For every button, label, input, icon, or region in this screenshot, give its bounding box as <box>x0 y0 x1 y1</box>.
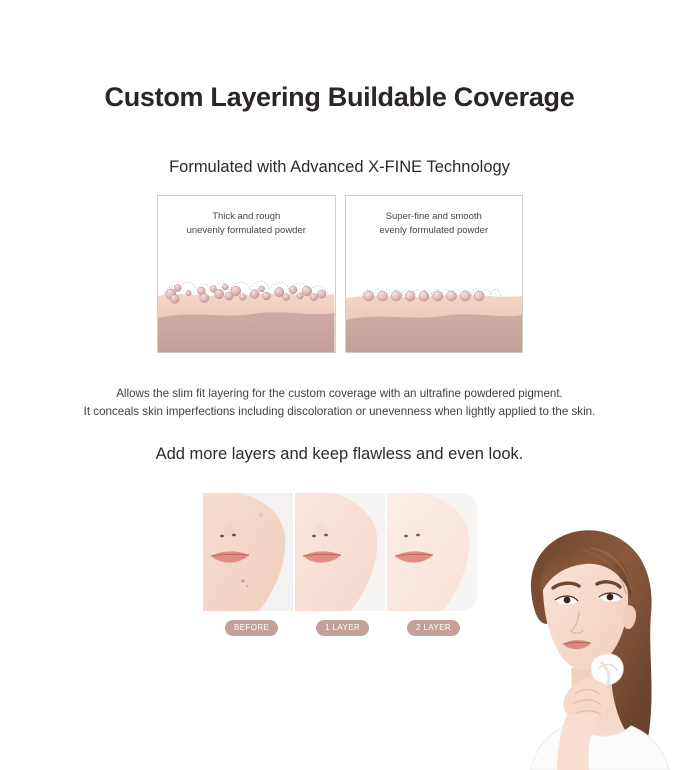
model-applying-cushion-photo <box>479 518 679 770</box>
badge-one-layer: 1 LAYER <box>316 620 369 636</box>
panel-even-powder: Super-fine and smooth evenly formulated … <box>345 195 524 353</box>
face-before-photo <box>203 493 293 611</box>
description-line-2: It conceals skin imperfections including… <box>0 403 679 421</box>
face-two-layer-photo <box>387 493 477 611</box>
product-detail-page: Custom Layering Buildable Coverage Formu… <box>0 0 679 770</box>
page-title: Custom Layering Buildable Coverage <box>0 82 679 113</box>
description-line-1: Allows the slim fit layering for the cus… <box>0 385 679 403</box>
powder-comparison-panels: Thick and rough unevenly formulated powd… <box>157 195 523 353</box>
panel-caption-line2: unevenly formulated powder <box>158 224 335 238</box>
panel-caption: Thick and rough unevenly formulated powd… <box>158 210 335 238</box>
layer-comparison-strip <box>203 493 477 611</box>
panel-caption-line2: evenly formulated powder <box>346 224 523 238</box>
even-powder-diagram <box>346 266 523 352</box>
badge-two-layer: 2 LAYER <box>407 620 460 636</box>
callout-heading: Add more layers and keep flawless and ev… <box>0 445 679 464</box>
panel-caption-line1: Thick and rough <box>158 210 335 224</box>
panel-caption: Super-fine and smooth evenly formulated … <box>346 210 523 238</box>
uneven-powder-diagram <box>158 266 335 352</box>
face-one-layer-photo <box>295 493 385 611</box>
badge-before: BEFORE <box>225 620 278 636</box>
layer-badges: BEFORE 1 LAYER 2 LAYER <box>203 620 483 638</box>
panel-uneven-powder: Thick and rough unevenly formulated powd… <box>157 195 336 353</box>
panel-caption-line1: Super-fine and smooth <box>346 210 523 224</box>
description-paragraph: Allows the slim fit layering for the cus… <box>0 385 679 420</box>
page-subtitle: Formulated with Advanced X-FINE Technolo… <box>0 158 679 177</box>
